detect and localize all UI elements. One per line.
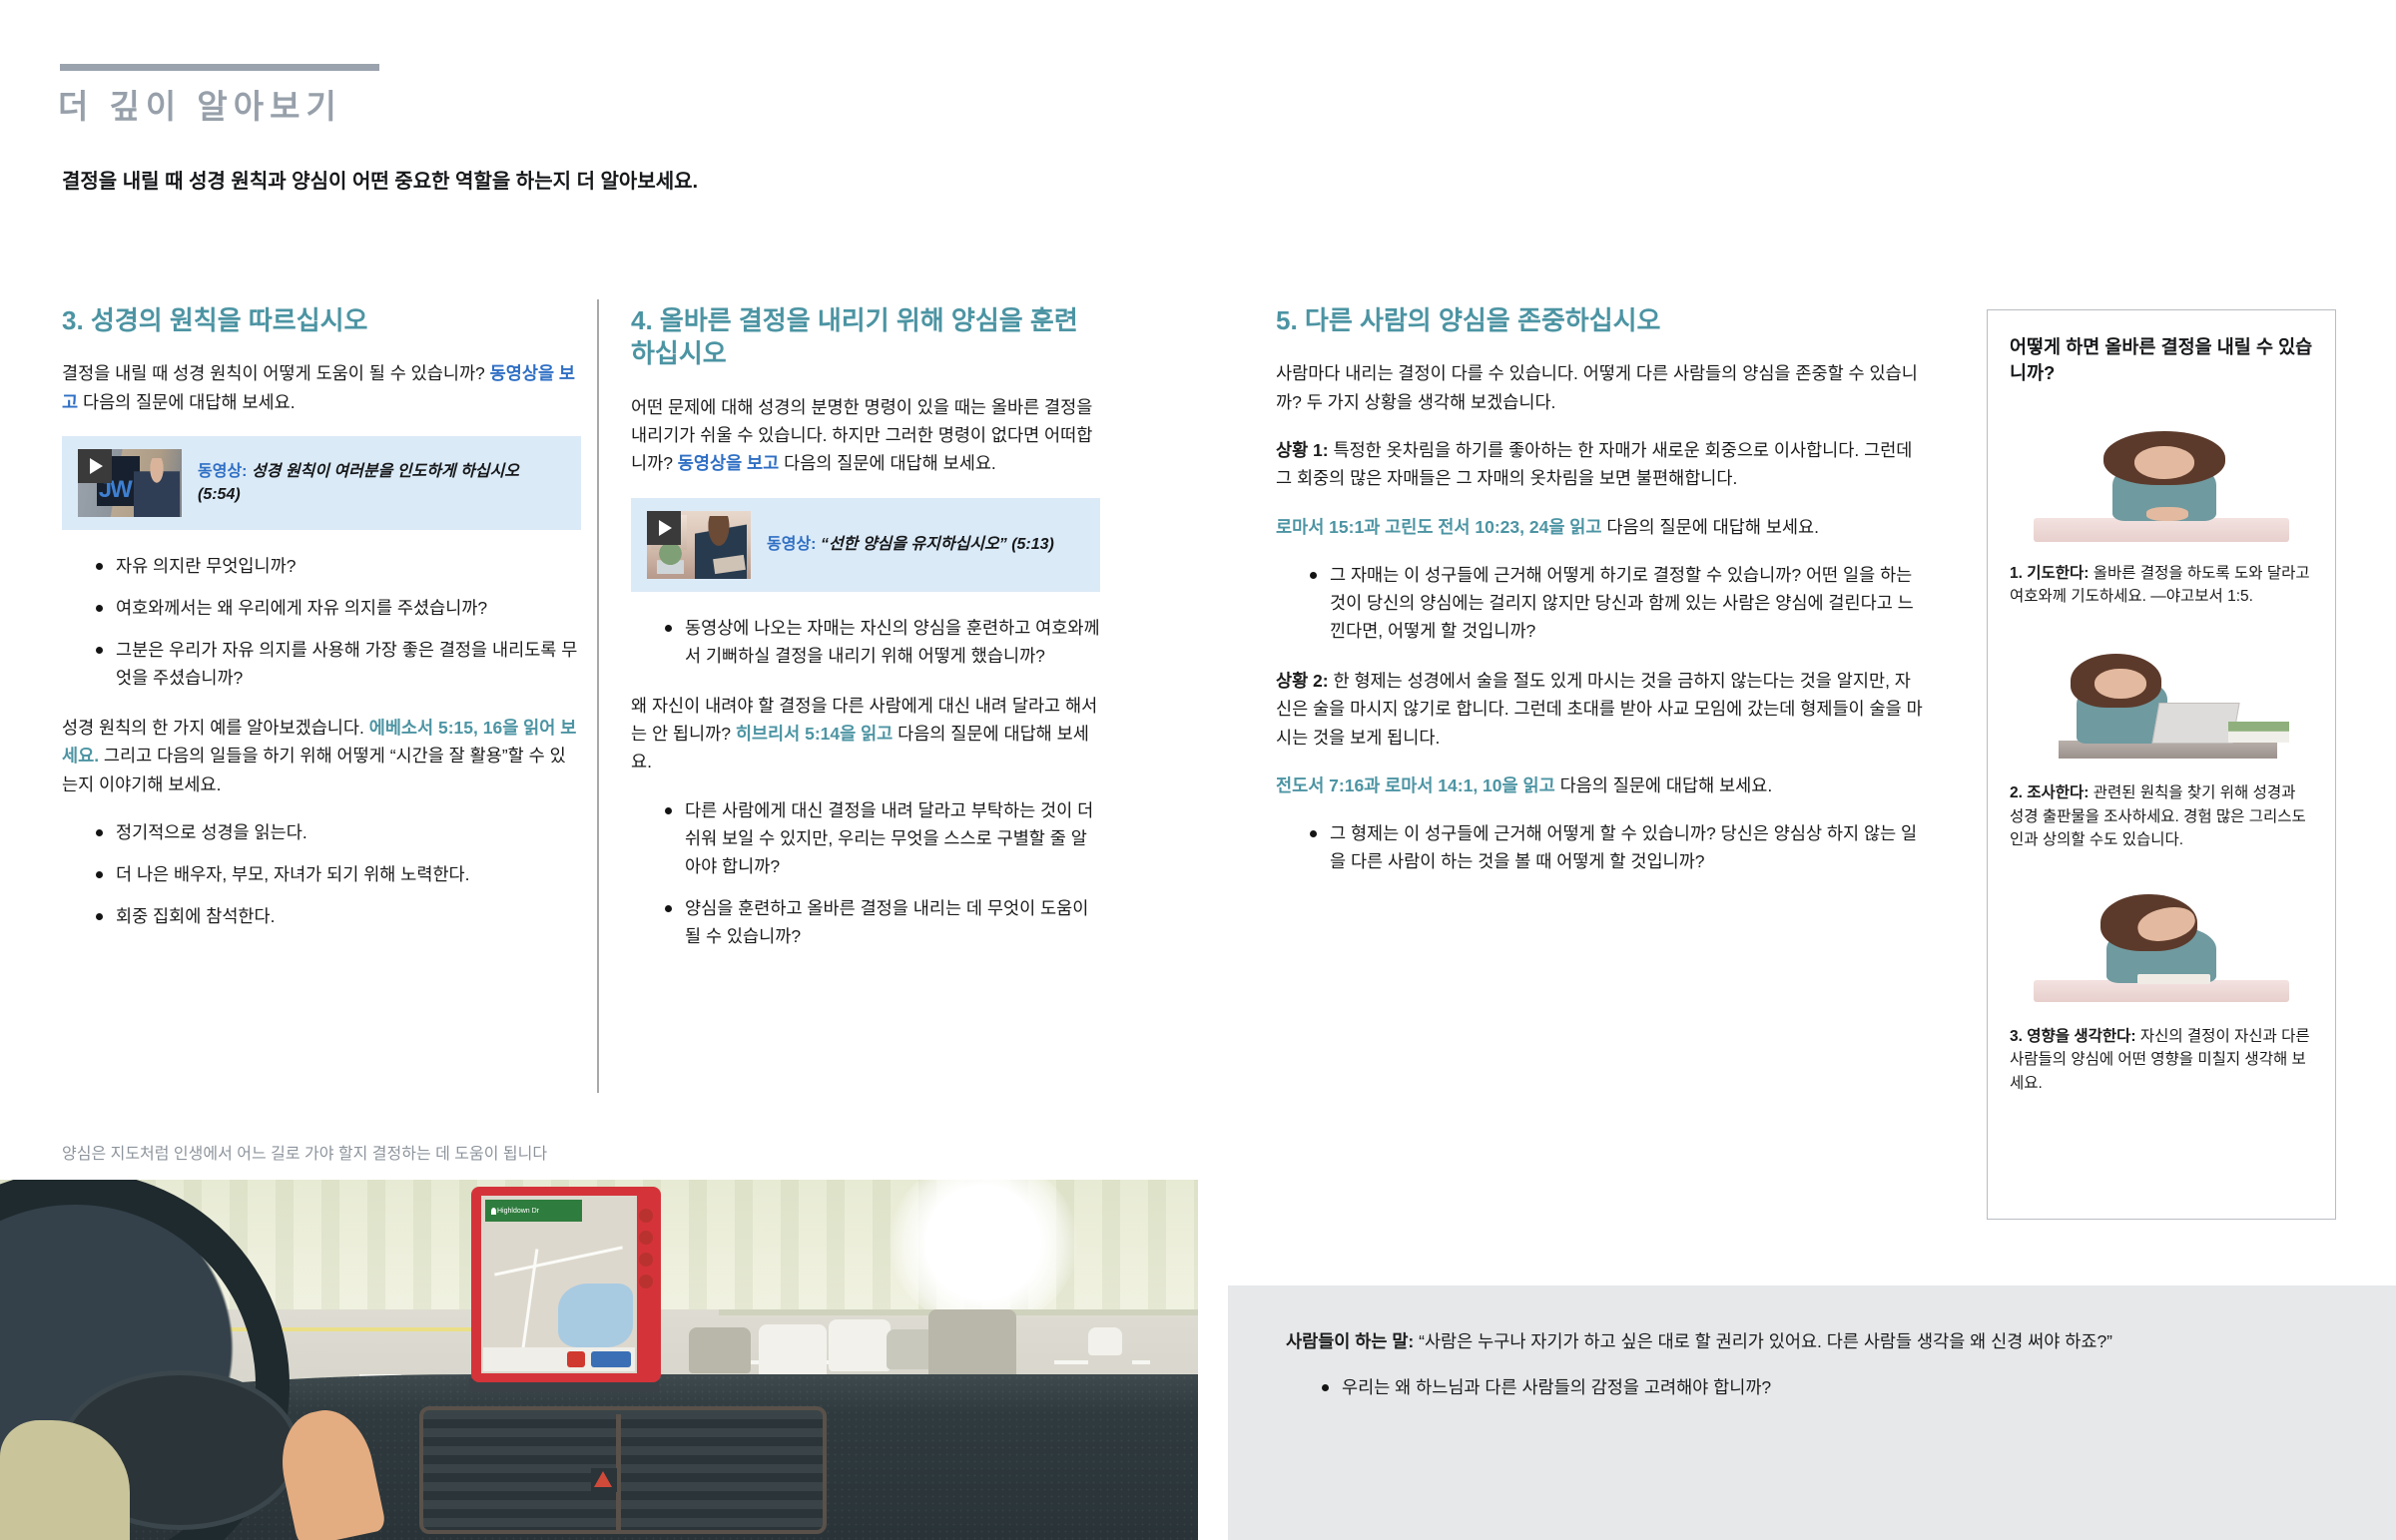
image-caption: 양심은 지도처럼 인생에서 어느 길로 가야 할지 결정하는 데 도움이 됩니다 (62, 1143, 581, 1167)
section-4-column: 4. 올바른 결정을 내리기 위해 양심을 훈련하십시오 어떤 문제에 대해 성… (631, 304, 1100, 972)
air-vent (419, 1406, 827, 1534)
jw-broadcasting-studio-thumbnail[interactable]: JW (78, 449, 182, 517)
page-kicker: 더 깊이 알아보기 (58, 80, 342, 128)
gps-phone[interactable]: Highldown Dr (471, 1187, 661, 1382)
video-lead-label: 동영상: (198, 463, 252, 480)
woman-reading-bible-thumbnail[interactable] (647, 511, 751, 579)
speaker-figure (134, 458, 180, 516)
vehicle-ahead (689, 1327, 751, 1373)
list-item: 더 나은 배우자, 부모, 자녀가 되기 위해 노력한다. (96, 860, 581, 888)
video-card-2[interactable]: 동영상: “선한 양심을 유지하십시오” (5:13) (631, 498, 1100, 592)
table-shape (2034, 518, 2288, 542)
vehicle-ahead (829, 1319, 891, 1371)
section-4-question-list: 동영상에 나오는 자매는 자신의 양심을 훈련하고 여호와께서 기뻐하실 결정을… (631, 614, 1100, 670)
video-title-text: “선한 양심을 유지하십시오” (5:13) (821, 536, 1054, 553)
map-marker-icon (639, 1253, 653, 1267)
section-4-intro-b: 다음의 질문에 대답해 보세요. (779, 453, 996, 473)
case-1-question-list: 그 자매는 이 성구들에 근거해 어떻게 하기로 결정할 수 있습니까? 어떤 … (1276, 561, 1925, 645)
quote-question-list: 우리는 왜 하느님과 다른 사람들의 감정을 고려해야 합니까? (1286, 1373, 2341, 1401)
map-water (558, 1283, 633, 1347)
woman-praying-at-table-illustration (2010, 404, 2313, 554)
section-4-paragraph-2: 왜 자신이 내려야 할 결정을 다른 사람에게 대신 내려 달라고 해서는 안 … (631, 692, 1100, 776)
phone-side-icons (639, 1201, 655, 1368)
section-3-intro-b: 다음의 질문에 대답해 보세요. (78, 392, 296, 412)
list-item: 그 형제는 이 성구들에 근거해 어떻게 할 수 있습니까? 당신은 양심상 하… (1310, 819, 1925, 875)
decision-steps-sidebar: 어떻게 하면 올바른 결정을 내릴 수 있습니까? 1. 기도한다: 올바른 결… (1987, 309, 2336, 1220)
gps-menu-button[interactable] (591, 1351, 631, 1367)
gps-street-banner: Highldown Dr (485, 1200, 582, 1222)
case-2-paragraph: 상황 2: 한 형제는 성경에서 술을 절도 있게 마시는 것을 금하지 않는다… (1276, 667, 1925, 752)
hands-shape (2146, 507, 2189, 521)
case-2-question-list: 그 형제는 이 성구들에 근거해 어떻게 할 수 있습니까? 당신은 양심상 하… (1276, 819, 1925, 875)
section-5-heading: 5. 다른 사람의 양심을 존중하십시오 (1276, 304, 1925, 337)
video-card-1-title: 동영상: 성경 원칙이 여러분을 인도하게 하십시오 (5:54) (198, 460, 565, 506)
quote-panel-inner: 사람들이 하는 말: “사람은 누구나 자기가 하고 싶은 대로 할 권리가 있… (1228, 1285, 2396, 1401)
section-3-paragraph-2: 성경 원칙의 한 가지 예를 알아보겠습니다. 에베소서 5:15, 16을 읽… (62, 714, 581, 798)
section-3-intro-a: 결정을 내릴 때 성경 원칙이 어떻게 도움이 될 수 있습니까? (62, 363, 490, 383)
section-3-intro: 결정을 내릴 때 성경 원칙이 어떻게 도움이 될 수 있습니까? 동영상을 보… (62, 359, 581, 416)
sidebar-step-2-caption: 2. 조사한다: 관련된 원칙을 찾기 위해 성경과 성경 출판물을 조사하세요… (2010, 781, 2313, 851)
video-card-1[interactable]: JW 동영상: 성경 원칙이 여러분을 인도하게 하십시오 (5:54) (62, 436, 581, 530)
page-subtitle: 결정을 내릴 때 성경 원칙과 양심이 어떤 중요한 역할을 하는지 더 알아보… (62, 165, 698, 194)
play-icon[interactable] (647, 511, 681, 545)
section-4-question-list-2: 다른 사람에게 대신 결정을 내려 달라고 부탁하는 것이 더 쉬워 보일 수 … (631, 796, 1100, 950)
laptop-shape (2151, 703, 2239, 744)
map-marker-icon (639, 1231, 653, 1245)
para2-a: 성경 원칙의 한 가지 예를 알아보겠습니다. (62, 718, 369, 738)
gps-bottom-bar (483, 1347, 635, 1371)
map-marker-icon (639, 1209, 653, 1223)
section-5-column: 5. 다른 사람의 양심을 존중하십시오 사람마다 내리는 결정이 다를 수 있… (1276, 304, 1925, 897)
list-item: 자유 의지란 무엇입니까? (96, 552, 581, 580)
sidebar-step-1-caption: 1. 기도한다: 올바른 결정을 하도록 도와 달라고 여호와께 기도하세요. … (2010, 562, 2313, 609)
section-3-question-list: 자유 의지란 무엇입니까? 여호와께서는 왜 우리에게 자유 의지를 주셨습니까… (62, 552, 581, 692)
list-item: 다른 사람에게 대신 결정을 내려 달라고 부탁하는 것이 더 쉬워 보일 수 … (665, 796, 1100, 880)
list-item: 우리는 왜 하느님과 다른 사람들의 감정을 고려해야 합니까? (1322, 1373, 2341, 1401)
section-4-intro: 어떤 문제에 대해 성경의 분명한 명령이 있을 때는 올바른 결정을 내리기가… (631, 393, 1100, 478)
sidebar-step-1: 1. 기도한다: 올바른 결정을 하도록 도와 달라고 여호와께 기도하세요. … (2010, 404, 2313, 609)
video-lead-label: 동영상: (767, 536, 821, 553)
case-2-text: 한 형제는 성경에서 술을 절도 있게 마시는 것을 금하지 않는다는 것을 알… (1276, 671, 1923, 748)
play-icon[interactable] (78, 449, 112, 483)
sidebar-step-1-label: 1. 기도한다: (2010, 565, 2089, 582)
case-2-label: 상황 2: (1276, 671, 1329, 691)
section-5-intro: 사람마다 내리는 결정이 다를 수 있습니다. 어떻게 다른 사람들의 양심을 … (1276, 359, 1925, 416)
scripture-link-hebrews[interactable]: 히브리서 5:14을 읽고 (736, 724, 893, 744)
header-rule (60, 64, 379, 71)
quote-paragraph: 사람들이 하는 말: “사람은 누구나 자기가 하고 싶은 대로 할 권리가 있… (1286, 1327, 2341, 1355)
section-3-activity-list: 정기적으로 성경을 읽는다. 더 나은 배우자, 부모, 자녀가 되기 위해 노… (62, 818, 581, 930)
scripture-link-ecclesiastes-romans[interactable]: 전도서 7:16과 로마서 14:1, 10을 읽고 (1276, 775, 1555, 795)
woman-thinking-at-table-illustration (2010, 867, 2313, 1017)
section-3-column: 3. 성경의 원칙을 따르십시오 결정을 내릴 때 성경 원칙이 어떻게 도움이… (62, 304, 581, 952)
video-card-2-title: 동영상: “선한 양심을 유지하십시오” (5:13) (767, 533, 1054, 556)
woman-researching-on-laptop-illustration (2010, 624, 2313, 773)
case-1-scripture-after: 다음의 질문에 대답해 보세요. (1601, 517, 1819, 537)
list-item: 회중 집회에 참석한다. (96, 902, 581, 930)
sidebar-step-3: 3. 영향을 생각한다: 자신의 결정이 자신과 다른 사람들의 양심에 어떤 … (2010, 867, 2313, 1095)
quote-text: “사람은 누구나 자기가 하고 싶은 대로 할 권리가 있어요. 다른 사람들 … (1414, 1331, 2112, 1351)
list-item: 그 자매는 이 성구들에 근거해 어떻게 하기로 결정할 수 있습니까? 어떤 … (1310, 561, 1925, 645)
section-3-heading: 3. 성경의 원칙을 따르십시오 (62, 304, 581, 337)
books-shape (2228, 722, 2289, 743)
plant-decor (657, 545, 684, 575)
what-people-say-panel: 사람들이 하는 말: “사람은 누구나 자기가 하고 싶은 대로 할 권리가 있… (1228, 1285, 2396, 1540)
face-shape (2095, 669, 2146, 699)
sidebar-title: 어떻게 하면 올바른 결정을 내릴 수 있습니까? (2010, 334, 2313, 386)
case-1-scripture-paragraph: 로마서 15:1과 고린도 전서 10:23, 24을 읽고 다음의 질문에 대… (1276, 513, 1925, 541)
sidebar-step-3-caption: 3. 영향을 생각한다: 자신의 결정이 자신과 다른 사람들의 양심에 어떤 … (2010, 1025, 2313, 1095)
sidebar-step-3-label: 3. 영향을 생각한다: (2010, 1028, 2136, 1045)
sidebar-step-2: 2. 조사한다: 관련된 원칙을 찾기 위해 성경과 성경 출판물을 조사하세요… (2010, 624, 2313, 851)
case-1-paragraph: 상황 1: 특정한 옷차림을 하기를 좋아하는 한 자매가 새로운 회중으로 이… (1276, 436, 1925, 493)
hazard-light-button[interactable] (591, 1468, 617, 1492)
video-link[interactable]: 동영상을 보고 (678, 453, 779, 473)
page-root: 더 깊이 알아보기 결정을 내릴 때 성경 원칙과 양심이 어떤 중요한 역할을… (0, 0, 2396, 1540)
sidebar-step-2-label: 2. 조사한다: (2010, 784, 2089, 801)
map-marker-icon (639, 1275, 653, 1288)
face-shape (2134, 446, 2195, 479)
list-item: 여호와께서는 왜 우리에게 자유 의지를 주셨습니까? (96, 594, 581, 622)
gps-exit-button[interactable] (567, 1351, 585, 1367)
case-1-text: 특정한 옷차림을 하기를 좋아하는 한 자매가 새로운 회중으로 이사합니다. … (1276, 440, 1912, 488)
location-pin-icon (491, 1208, 496, 1215)
column-divider (597, 299, 599, 1093)
vehicle-ahead (1088, 1327, 1122, 1355)
list-item: 동영상에 나오는 자매는 자신의 양심을 훈련하고 여호와께서 기뻐하실 결정을… (665, 614, 1100, 670)
list-item: 정기적으로 성경을 읽는다. (96, 818, 581, 846)
case-2-scripture-after: 다음의 질문에 대답해 보세요. (1555, 775, 1773, 795)
gps-map-screen[interactable]: Highldown Dr (481, 1196, 637, 1373)
quote-label: 사람들이 하는 말: (1286, 1331, 1414, 1351)
case-2-scripture-paragraph: 전도서 7:16과 로마서 14:1, 10을 읽고 다음의 질문에 대답해 보… (1276, 771, 1925, 799)
para2-b: 그리고 다음의 일들을 하기 위해 어떻게 “시간을 잘 활용”할 수 있는지 … (62, 746, 566, 793)
list-item: 양심을 훈련하고 올바른 결정을 내리는 데 무엇이 도움이 될 수 있습니까? (665, 894, 1100, 950)
case-1-label: 상황 1: (1276, 440, 1329, 460)
scripture-link-romans-corinthians[interactable]: 로마서 15:1과 고린도 전서 10:23, 24을 읽고 (1276, 517, 1601, 537)
list-item: 그분은 우리가 자유 의지를 사용해 가장 좋은 결정을 내리도록 무엇을 주셨… (96, 636, 581, 692)
section-4-heading: 4. 올바른 결정을 내리기 위해 양심을 훈련하십시오 (631, 304, 1100, 371)
driving-car-with-gps-phone-illustration: Highldown Dr (0, 1180, 1198, 1540)
map-road (495, 1246, 624, 1276)
open-book-shape (2137, 974, 2210, 985)
vehicle-ahead (759, 1324, 827, 1380)
